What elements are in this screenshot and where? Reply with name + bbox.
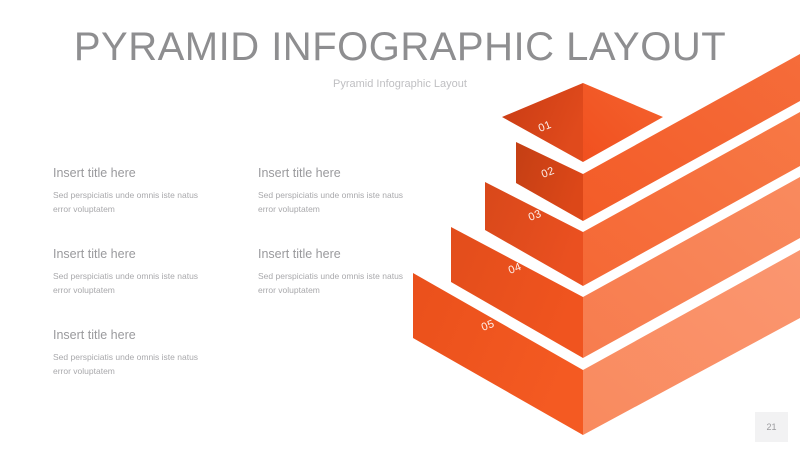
- page-number-text: 21: [766, 422, 776, 432]
- list-item[interactable]: 3 Insert title here Sed perspiciatis und…: [53, 247, 258, 297]
- list-item[interactable]: 1 Insert title here Sed perspiciatis und…: [53, 166, 258, 216]
- item-body: Sed perspiciatis unde omnis iste natus e…: [53, 350, 203, 378]
- item-title: Insert title here: [53, 328, 258, 342]
- list-item[interactable]: 5 Insert title here Sed perspiciatis und…: [53, 328, 258, 378]
- item-body: Sed perspiciatis unde omnis iste natus e…: [53, 269, 203, 297]
- pyramid-chart: 05 04 03 02 01: [380, 50, 800, 450]
- item-body: Sed perspiciatis unde omnis iste natus e…: [53, 188, 203, 216]
- item-title: Insert title here: [53, 247, 258, 261]
- slide-canvas: PYRAMID INFOGRAPHIC LAYOUT Pyramid Infog…: [0, 0, 800, 450]
- item-title: Insert title here: [53, 166, 258, 180]
- page-number-badge: 21: [755, 412, 788, 442]
